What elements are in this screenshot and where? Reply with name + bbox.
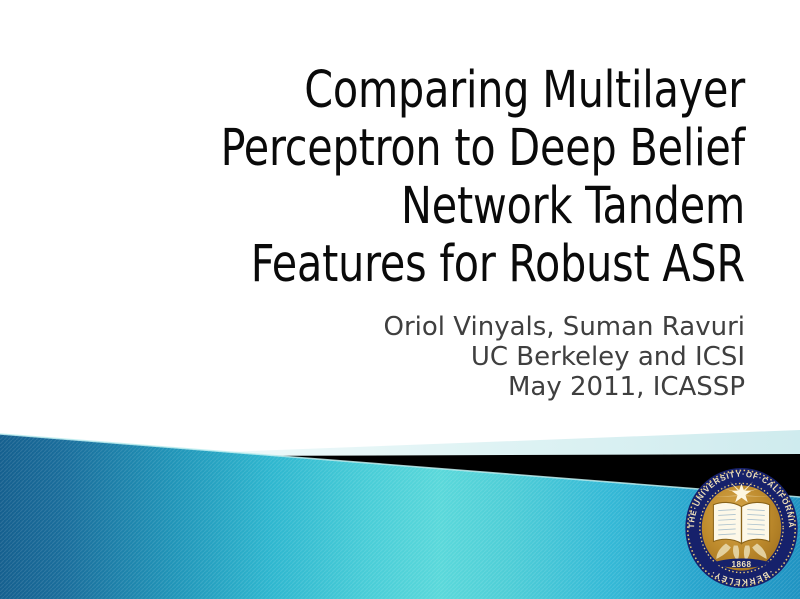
subtitle-authors: Oriol Vinyals, Suman Ravuri xyxy=(300,312,745,342)
subtitle-venue: May 2011, ICASSP xyxy=(300,372,745,402)
uc-berkeley-seal: ·THE·UNIVERSITY·OF·CALIFORNIA· ·BERKELEY… xyxy=(683,466,800,590)
title-slide: Comparing Multilayer Perceptron to Deep … xyxy=(0,0,800,599)
seal-founded-year: 1868 xyxy=(731,560,751,569)
title-line-3: Network Tandem xyxy=(124,178,745,236)
slide-title: Comparing Multilayer Perceptron to Deep … xyxy=(55,62,745,294)
title-line-4: Features for Robust ASR xyxy=(124,236,745,294)
subtitle-affiliation: UC Berkeley and ICSI xyxy=(300,342,745,372)
seal-open-book-icon xyxy=(713,502,769,543)
teal-gradient-band xyxy=(0,434,800,599)
pale-blue-wedge xyxy=(226,430,800,457)
title-line-2: Perceptron to Deep Belief xyxy=(124,120,745,178)
title-line-1: Comparing Multilayer xyxy=(124,62,745,120)
slide-subtitle: Oriol Vinyals, Suman Ravuri UC Berkeley … xyxy=(300,312,745,402)
